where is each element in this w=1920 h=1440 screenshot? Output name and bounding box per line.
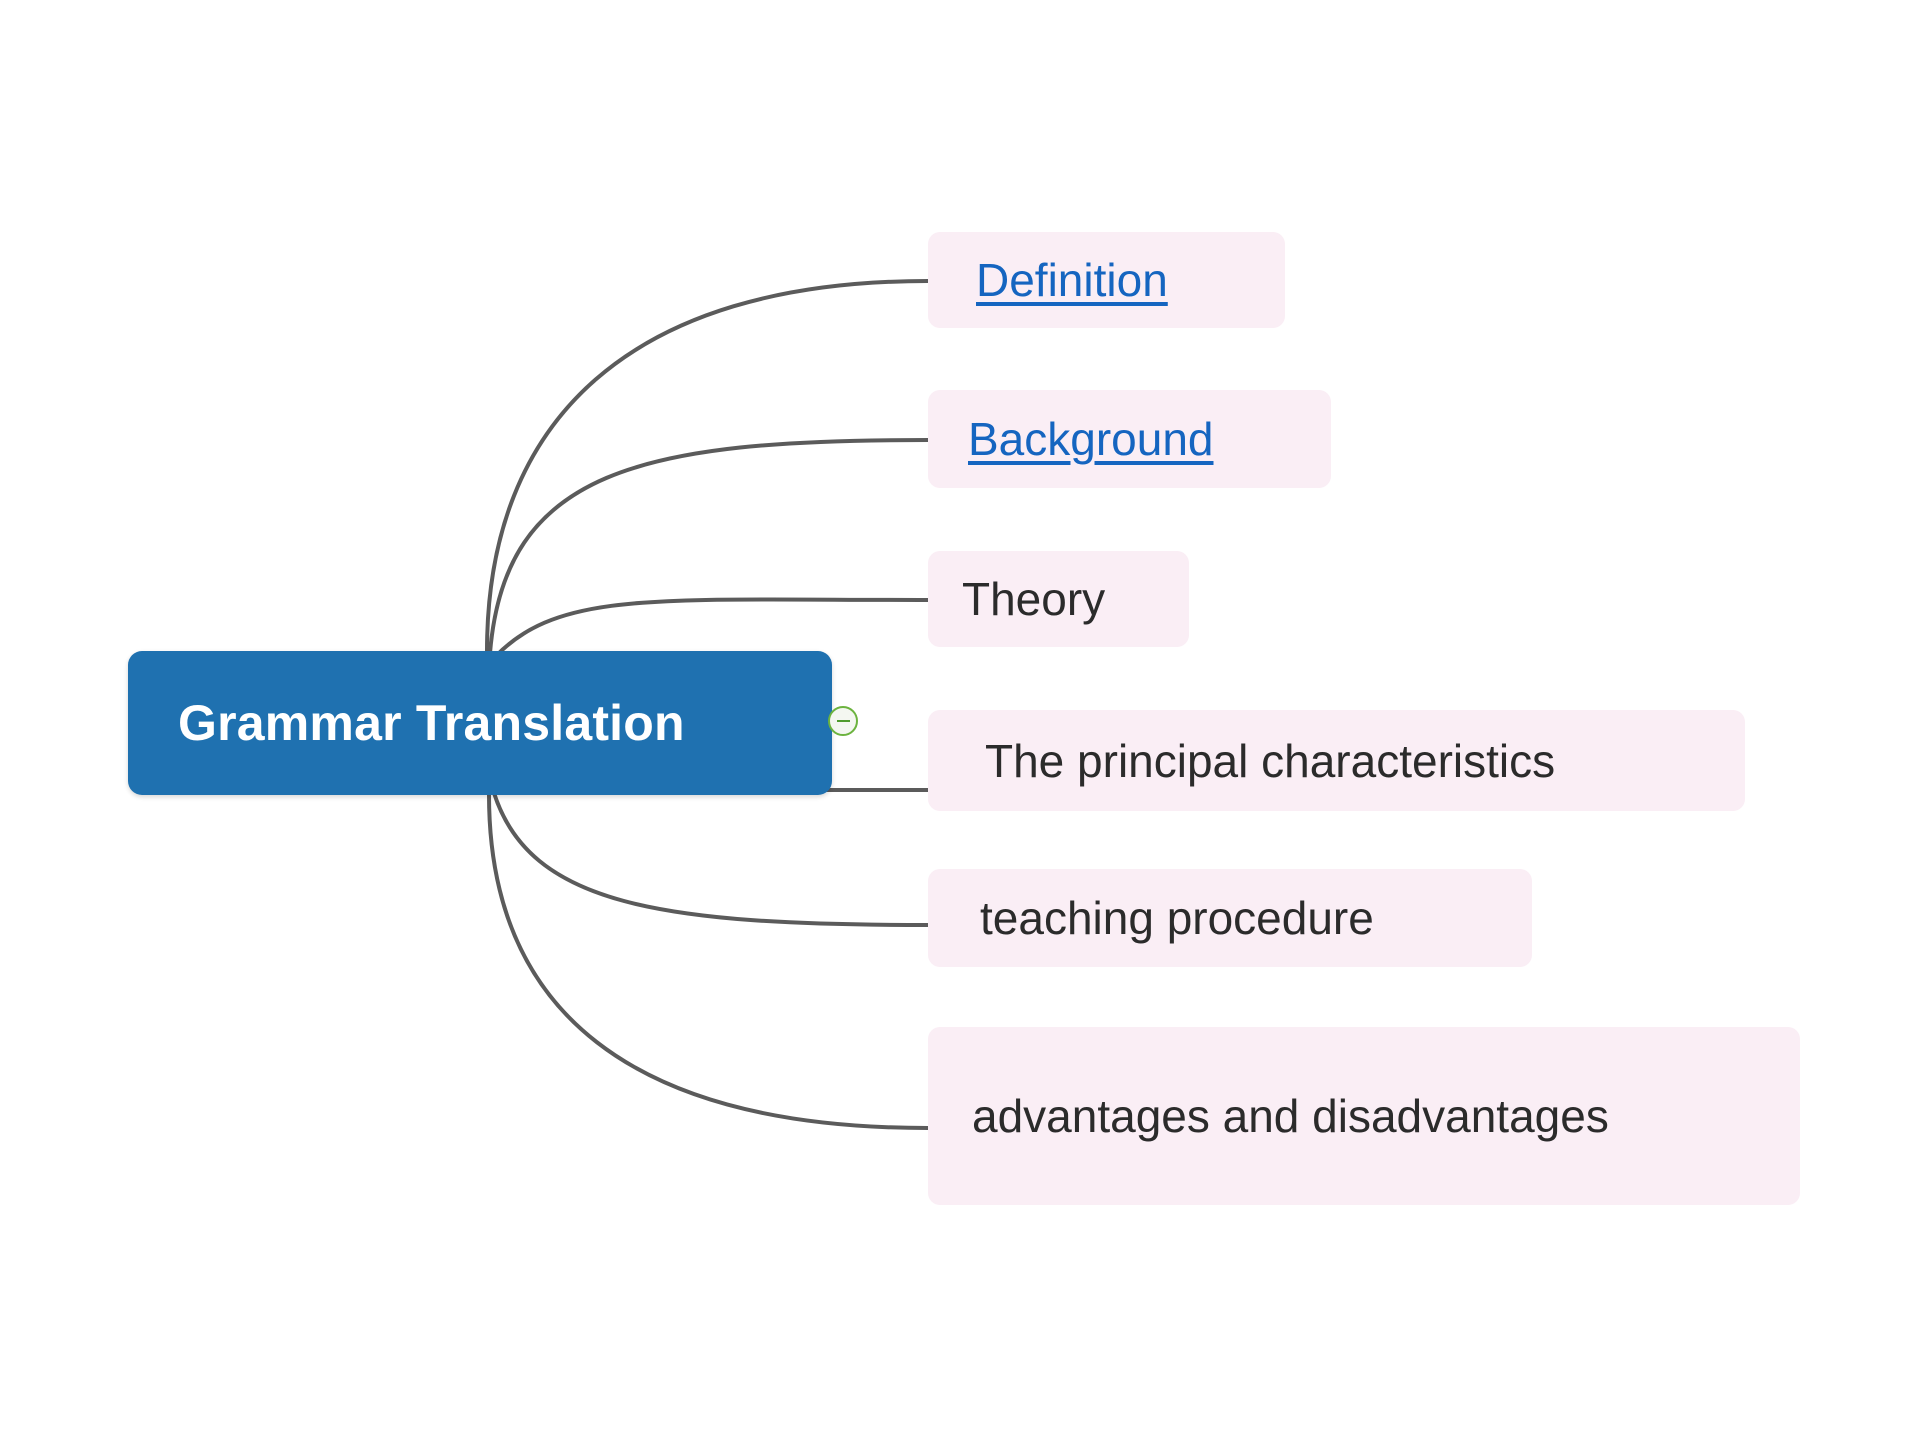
branch-advantages-disadvantages	[489, 795, 928, 1128]
branch-background	[490, 440, 928, 653]
topic-node[interactable]: advantages and disadvantages	[928, 1027, 1800, 1205]
root-node[interactable]: Grammar Translation	[128, 651, 832, 795]
topic-node[interactable]: The principal characteristics	[928, 710, 1745, 811]
topic-link-label[interactable]: Definition	[976, 253, 1168, 307]
mindmap-canvas: Grammar Translation DefinitionBackground…	[0, 0, 1920, 1440]
topic-node[interactable]: Definition	[928, 232, 1285, 328]
collapse-toggle-icon[interactable]	[828, 706, 858, 736]
topic-link-label[interactable]: Background	[968, 412, 1214, 466]
topic-node[interactable]: teaching procedure	[928, 869, 1532, 967]
minus-icon	[837, 720, 850, 722]
topic-label: The principal characteristics	[985, 734, 1555, 788]
branch-teaching-procedure	[494, 793, 928, 925]
topic-label: teaching procedure	[980, 891, 1374, 945]
topic-label: advantages and disadvantages	[972, 1089, 1609, 1143]
topic-node[interactable]: Theory	[928, 551, 1189, 647]
branch-definition	[487, 281, 928, 651]
topic-label: Theory	[962, 572, 1105, 626]
topic-node[interactable]: Background	[928, 390, 1331, 488]
root-node-label: Grammar Translation	[178, 694, 685, 752]
branch-theory	[496, 599, 928, 656]
